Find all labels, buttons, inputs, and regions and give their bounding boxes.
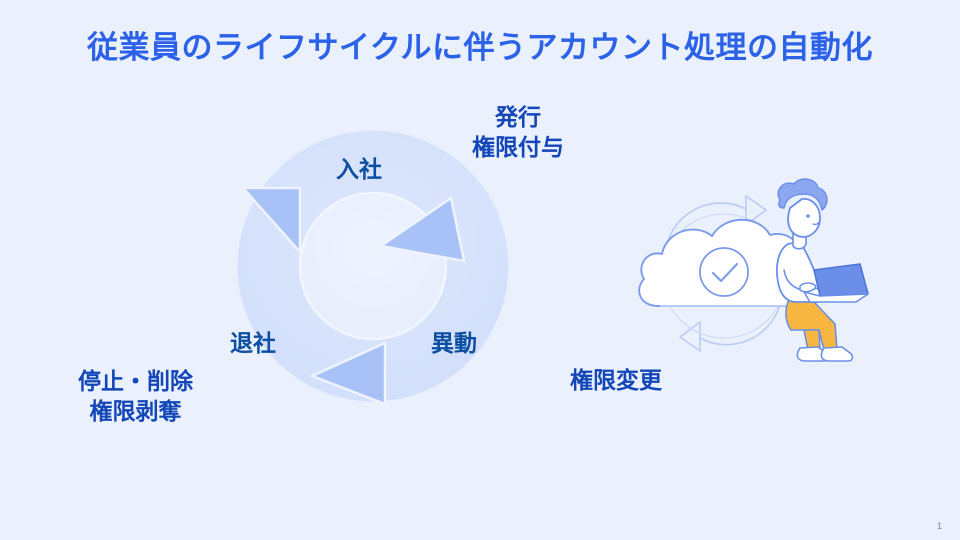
cloud-sync-illustration (628, 178, 878, 373)
cycle-label-leave: 退社 (230, 324, 276, 358)
lifecycle-cycle-diagram: 入社 異動 退社 (235, 128, 511, 404)
person-shoe-front (821, 347, 852, 361)
cycle-inner-hole (300, 193, 446, 339)
illustration-svg (628, 178, 878, 373)
laptop-screen (814, 264, 868, 296)
page-title: 従業員のライフサイクルに伴うアカウント処理の自動化 (0, 22, 960, 67)
person-eye (806, 214, 810, 218)
stage-issue-line2: 権限付与 (472, 132, 564, 162)
page-number: 1 (937, 521, 942, 531)
stage-label-suspend-delete-revoke: 停止・削除 権限剥奪 (78, 366, 193, 427)
check-icon (700, 248, 748, 296)
cycle-label-join: 入社 (336, 150, 382, 184)
person-head (788, 199, 820, 237)
cycle-label-transfer: 異動 (431, 324, 477, 358)
stage-issue-line1: 発行 (472, 102, 564, 132)
stage-label-issue-grant: 発行 権限付与 (472, 102, 564, 163)
stage-revoke-line2: 権限剥奪 (78, 396, 193, 426)
slide-canvas: 従業員のライフサイクルに伴うアカウント処理の自動化 (0, 0, 960, 540)
person-with-laptop (777, 179, 868, 361)
stage-revoke-line1: 停止・削除 (78, 366, 193, 396)
